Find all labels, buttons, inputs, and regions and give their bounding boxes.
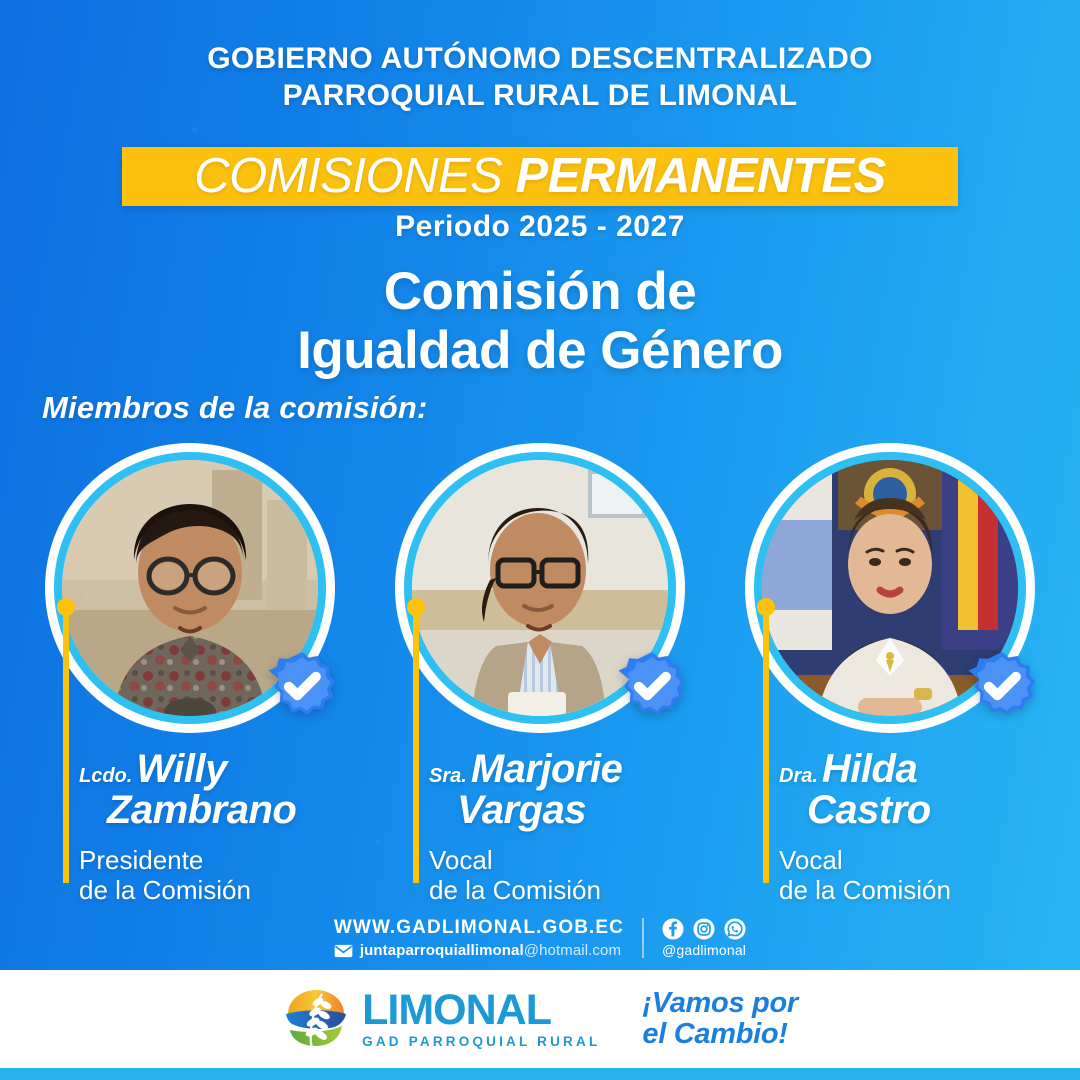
logo-name: LIMONAL	[362, 986, 551, 1034]
slogan-line2: el Cambio!	[642, 1019, 797, 1050]
limonal-emblem-icon	[282, 988, 350, 1050]
member-role-line2: de la Comisión	[79, 875, 345, 905]
member-card: Dra.Hilda Castro Vocal de la Comisión	[735, 443, 1045, 905]
email-user: juntaparroquiallimonal	[360, 942, 524, 959]
website-link[interactable]: WWW.GADLIMONAL.GOB.EC	[334, 917, 624, 939]
slogan-line1: ¡Vamos por	[642, 988, 797, 1019]
member-pin-marker	[407, 598, 425, 883]
member-photo-frame	[45, 443, 335, 733]
member-last-name: Zambrano	[79, 790, 345, 831]
member-name-block: Sra.Marjorie Vargas Vocal de la Comisión	[385, 749, 695, 905]
member-role-line1: Vocal	[779, 845, 1045, 875]
poster-canvas: GOBIERNO AUTÓNOMO DESCENTRALIZADO PARROQ…	[0, 0, 1080, 1080]
members-list: Lcdo.Willy Zambrano Presidente de la Com…	[0, 443, 1080, 905]
banner-word-bold: PERMANENTES	[516, 149, 886, 203]
member-role: Vocal de la Comisión	[779, 845, 1045, 905]
email-row[interactable]: juntaparroquiallimonal@hotmail.com	[334, 942, 624, 959]
member-role-line1: Vocal	[429, 845, 695, 875]
member-last-name: Vargas	[429, 790, 695, 831]
org-title-line1: GOBIERNO AUTÓNOMO DESCENTRALIZADO	[0, 40, 1080, 77]
social-handle: @gadlimonal	[662, 942, 746, 958]
member-role: Vocal de la Comisión	[429, 845, 695, 905]
commissions-banner: COMISIONES PERMANENTES	[122, 147, 958, 206]
commission-title: Comisión de Igualdad de Género	[0, 262, 1080, 381]
campaign-slogan: ¡Vamos por el Cambio!	[642, 988, 797, 1051]
member-first-name: Hilda	[822, 747, 917, 791]
organization-title: GOBIERNO AUTÓNOMO DESCENTRALIZADO PARROQ…	[0, 40, 1080, 114]
member-name-first-line: Dra.Hilda	[779, 749, 1045, 790]
member-card: Lcdo.Willy Zambrano Presidente de la Com…	[35, 443, 345, 905]
member-prefix: Sra.	[429, 765, 467, 787]
verified-badge-icon	[265, 649, 339, 723]
pin-stem	[63, 607, 69, 883]
member-role: Presidente de la Comisión	[79, 845, 345, 905]
member-name-block: Lcdo.Willy Zambrano Presidente de la Com…	[35, 749, 345, 905]
member-prefix: Dra.	[779, 765, 818, 787]
member-last-name: Castro	[779, 790, 1045, 831]
period-label: Periodo 2025 - 2027	[0, 210, 1080, 244]
members-label: Miembros de la comisión:	[42, 390, 428, 426]
pin-stem	[763, 607, 769, 883]
email-address: juntaparroquiallimonal@hotmail.com	[360, 942, 621, 959]
verified-badge-icon	[965, 649, 1039, 723]
member-photo-frame	[745, 443, 1035, 733]
bottom-accent-strip	[0, 1068, 1080, 1080]
contact-divider	[642, 918, 644, 958]
email-domain: @hotmail.com	[524, 942, 621, 959]
member-role-line1: Presidente	[79, 845, 345, 875]
member-prefix: Lcdo.	[79, 765, 132, 787]
social-block: @gadlimonal	[662, 918, 746, 958]
member-name-first-line: Lcdo.Willy	[79, 749, 345, 790]
member-name-block: Dra.Hilda Castro Vocal de la Comisión	[735, 749, 1045, 905]
pin-stem	[413, 607, 419, 883]
org-title-line2: PARROQUIAL RURAL DE LIMONAL	[0, 77, 1080, 114]
member-pin-marker	[57, 598, 75, 883]
footer-bar: LIMONAL GAD PARROQUIAL RURAL ¡Vamos por …	[0, 970, 1080, 1068]
instagram-icon[interactable]	[693, 918, 715, 940]
member-name-first-line: Sra.Marjorie	[429, 749, 695, 790]
banner-word-light: COMISIONES	[194, 149, 502, 203]
contact-bar: WWW.GADLIMONAL.GOB.EC juntaparroquiallim…	[0, 917, 1080, 959]
member-card: Sra.Marjorie Vargas Vocal de la Comisión	[385, 443, 695, 905]
envelope-icon	[334, 944, 353, 958]
handle-text: @gadlimonal	[662, 942, 746, 958]
member-first-name: Marjorie	[471, 747, 623, 791]
member-photo-frame	[395, 443, 685, 733]
facebook-icon[interactable]	[662, 918, 684, 940]
member-first-name: Willy	[136, 747, 227, 791]
limonal-wordmark: LIMONAL GAD PARROQUIAL RURAL	[362, 989, 600, 1049]
contact-details: WWW.GADLIMONAL.GOB.EC juntaparroquiallim…	[334, 917, 624, 959]
banner-text: COMISIONES PERMANENTES	[194, 152, 885, 201]
whatsapp-icon[interactable]	[724, 918, 746, 940]
member-role-line2: de la Comisión	[779, 875, 1045, 905]
logo-subtitle: GAD PARROQUIAL RURAL	[362, 1035, 600, 1049]
social-icons	[662, 918, 746, 940]
member-role-line2: de la Comisión	[429, 875, 695, 905]
commission-title-line1: Comisión de	[0, 262, 1080, 321]
verified-badge-icon	[615, 649, 689, 723]
limonal-logo: LIMONAL GAD PARROQUIAL RURAL	[282, 988, 600, 1050]
member-pin-marker	[757, 598, 775, 883]
commission-title-line2: Igualdad de Género	[0, 321, 1080, 380]
